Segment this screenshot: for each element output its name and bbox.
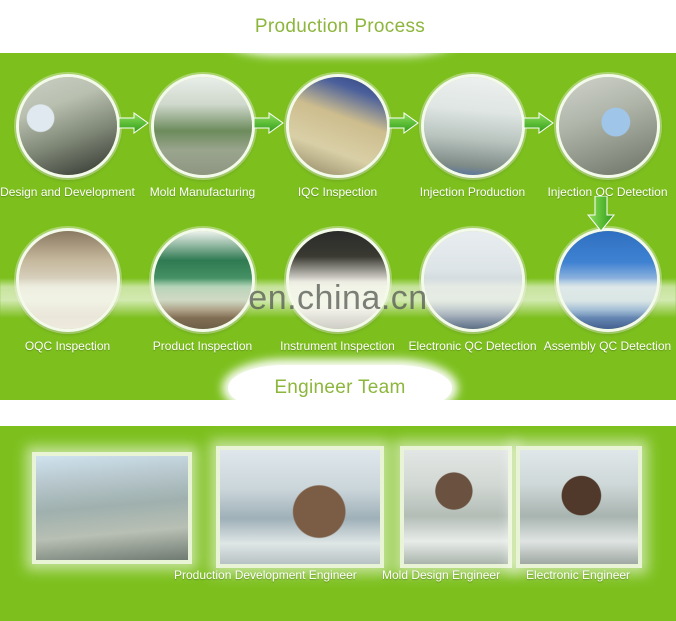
- engineer-caption: Production Development Engineer: [174, 568, 357, 582]
- process-node[interactable]: IQC Inspection: [270, 74, 405, 199]
- process-photo-iqc-inspection: [289, 77, 387, 175]
- engineer-caption-row: Production Development Engineer Mold Des…: [0, 568, 676, 590]
- banner-engineer-team: Engineer Team: [228, 365, 452, 411]
- process-caption: Instrument Inspection: [280, 339, 395, 353]
- process-circle: [556, 74, 660, 178]
- process-circle: [16, 74, 120, 178]
- arrow-right-icon: [524, 112, 554, 134]
- process-photo-assembly-qc-detection: [559, 231, 657, 329]
- process-photo-design-and-development: [19, 77, 117, 175]
- process-circle: [286, 228, 390, 332]
- engineer-photo-production-development-engineer: [220, 450, 380, 564]
- arrow-right-icon: [254, 112, 284, 134]
- engineer-photo[interactable]: [400, 446, 512, 568]
- process-node[interactable]: Injection Production: [405, 74, 540, 199]
- process-node[interactable]: Assembly QC Detection: [540, 228, 675, 353]
- banner-production-process: Production Process: [215, 4, 465, 50]
- process-circle: [421, 74, 525, 178]
- banner-engineer-team-title: Engineer Team: [274, 377, 405, 399]
- engineer-photo-mold-design-engineer: [404, 450, 508, 564]
- process-caption: Design and Development: [0, 185, 135, 199]
- engineer-photo[interactable]: [32, 452, 192, 564]
- process-row-1: Design and Development Mold Manufacturin…: [0, 74, 676, 199]
- process-node[interactable]: Electronic QC Detection: [405, 228, 540, 353]
- engineer-photo-row: [0, 444, 676, 564]
- process-caption: Assembly QC Detection: [544, 339, 671, 353]
- process-photo-product-inspection: [154, 231, 252, 329]
- engineer-photo[interactable]: [216, 446, 384, 568]
- process-circle: [16, 228, 120, 332]
- process-node[interactable]: Instrument Inspection: [270, 228, 405, 353]
- process-caption: Electronic QC Detection: [408, 339, 536, 353]
- process-node[interactable]: Injection QC Detection: [540, 74, 675, 199]
- process-photo-oqc-inspection: [19, 231, 117, 329]
- engineer-caption: Electronic Engineer: [526, 568, 630, 582]
- engineer-photo-electronic-engineer: [520, 450, 638, 564]
- process-circle: [286, 74, 390, 178]
- process-photo-instrument-inspection: [289, 231, 387, 329]
- process-circle: [556, 228, 660, 332]
- process-caption: OQC Inspection: [25, 339, 110, 353]
- engineer-photo-office: [36, 456, 188, 560]
- engineer-caption: Mold Design Engineer: [382, 568, 500, 582]
- page-root: Production Process Design and Developmen…: [0, 0, 676, 621]
- process-node[interactable]: Product Inspection: [135, 228, 270, 353]
- process-photo-injection-production: [424, 77, 522, 175]
- arrow-right-icon: [389, 112, 419, 134]
- process-circle: [151, 74, 255, 178]
- arrow-right-icon: [119, 112, 149, 134]
- process-node[interactable]: OQC Inspection: [0, 228, 135, 353]
- process-row-2: OQC Inspection Product Inspection Instru…: [0, 228, 676, 353]
- arrow-down-icon: [587, 196, 615, 232]
- process-node[interactable]: Mold Manufacturing: [135, 74, 270, 199]
- engineer-photo[interactable]: [516, 446, 642, 568]
- process-caption: IQC Inspection: [298, 185, 377, 199]
- process-photo-mold-manufacturing: [154, 77, 252, 175]
- process-photo-electronic-qc-detection: [424, 231, 522, 329]
- process-photo-injection-qc-detection: [559, 77, 657, 175]
- process-caption: Product Inspection: [153, 339, 252, 353]
- process-circle: [421, 228, 525, 332]
- process-caption: Mold Manufacturing: [150, 185, 255, 199]
- banner-production-process-title: Production Process: [255, 16, 425, 38]
- process-caption: Injection Production: [420, 185, 525, 199]
- process-node[interactable]: Design and Development: [0, 74, 135, 199]
- process-circle: [151, 228, 255, 332]
